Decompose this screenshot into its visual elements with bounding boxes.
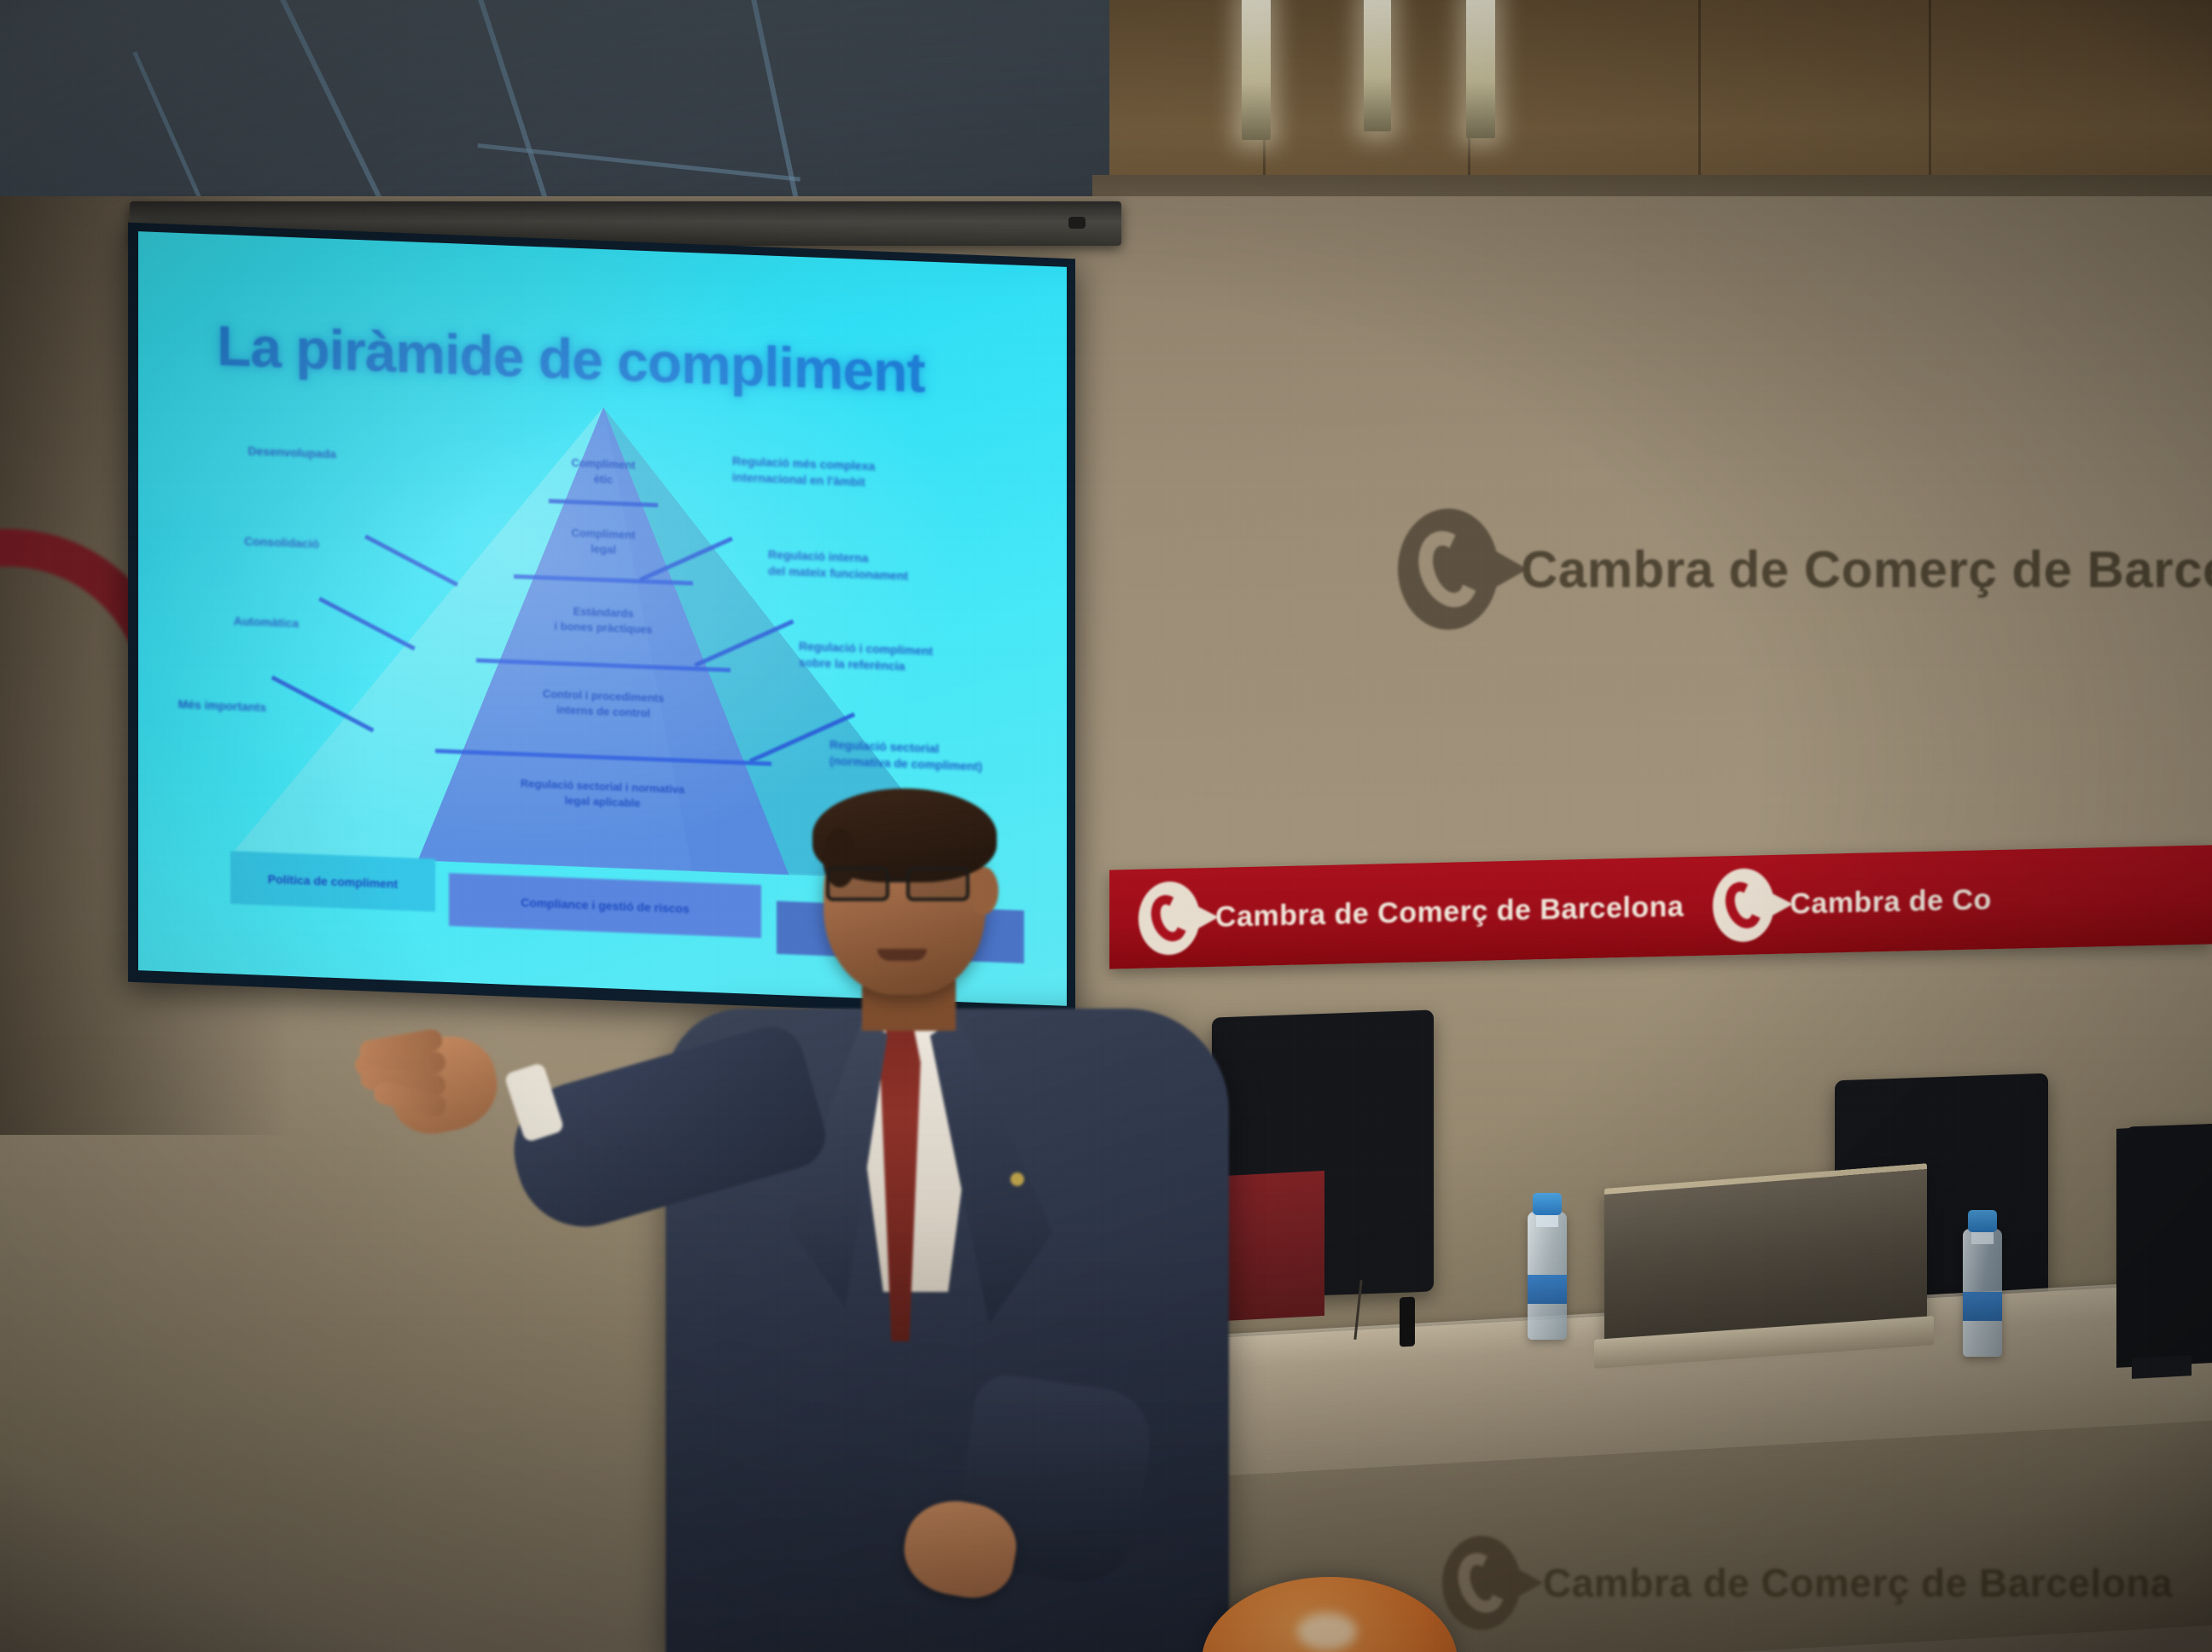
pyramid-level-2-text: Compliment legal [522,523,684,559]
bottom-logo-label: Cambra de Comerç de Barcelona [1543,1560,2173,1606]
banner-logo-label-2: Cambra de Co [1790,883,1992,921]
ceiling-light-2 [1364,0,1391,131]
photo-scene: La piràmide de compliment Compliment [0,0,2212,1652]
pyramid-left-label-2: Consolidació [148,530,319,553]
glasses-icon [824,867,992,901]
orange-object-highlight [1297,1613,1357,1650]
wall-logo-label: Cambra de Comerç de Barce [1521,540,2212,599]
slide-footer-box-1: Política de compliment [230,851,435,911]
presenter-raised-hand [358,1005,521,1142]
water-bottle-1 [1528,1212,1567,1340]
pyramid-level-1-text: Compliment ètic [546,455,661,489]
presenter-lapel-pin [1010,1172,1024,1186]
ceiling-light-3 [1466,0,1495,138]
wall-logo-bottom: Cambra de Comerç de Barcelona [1442,1536,2173,1630]
slide-title: La piràmide de compliment [217,313,925,405]
pyramid-right-label-3: Regulació i compliment sobre la referènc… [799,638,1021,679]
screen-roller-knob [1068,217,1086,229]
water-bottle-2 [1963,1229,2002,1357]
cambra-logo-icon [1442,1536,1521,1630]
pyramid-edge-left-2 [318,596,416,650]
pyramid-left-label-1: Desenvolupada [166,439,336,462]
microphone [1400,1297,1415,1347]
pyramid-right-label-1: Regulació més complexa internacional en … [732,453,954,494]
wall-logo-primary: Cambra de Comerç de Barce [1398,509,2212,630]
banner-logo-label: Cambra de Comerç de Barcelona [1215,890,1684,934]
cambra-logo-icon [1713,868,1774,943]
presenter-person [563,785,1263,1652]
side-monitor-stand [2132,1355,2192,1379]
pyramid-right-label-2: Regulació interna del mateix funcionamen… [768,546,990,587]
side-monitor [2116,1124,2212,1368]
pyramid-left-label-3: Automàtica [138,609,299,632]
pyramid-left-label-4: Més importants [138,693,266,716]
presenter-mouth [877,949,927,961]
ceiling-light-1 [1242,0,1271,140]
cambra-logo-icon [1398,509,1499,630]
banner-logo-group-2: Cambra de Co [1713,863,1992,942]
pyramid-edge-left-1 [364,534,458,586]
